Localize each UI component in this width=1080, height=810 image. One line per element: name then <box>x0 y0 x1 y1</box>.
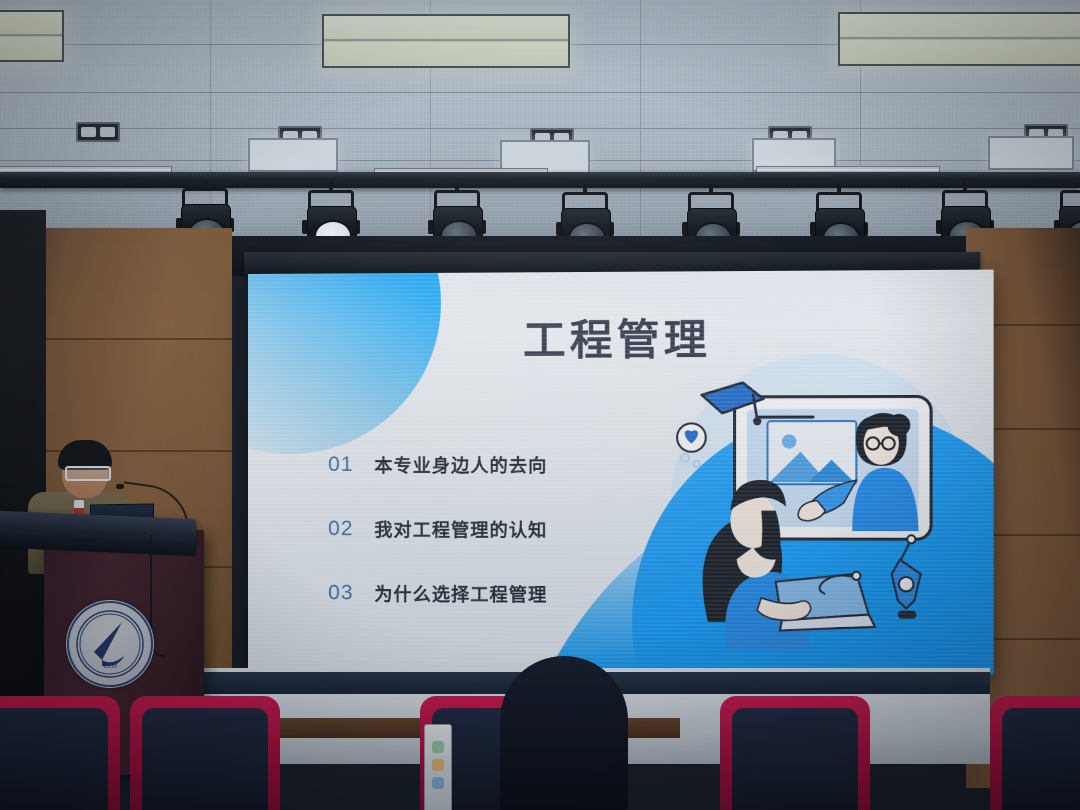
agenda-item: 01 本专业身边人的去向 <box>328 452 632 478</box>
ceiling <box>0 0 1080 250</box>
agenda-number: 03 <box>328 581 374 605</box>
auditorium-seat <box>130 696 280 810</box>
microphone-capsule <box>116 484 124 489</box>
lecture-hall-photo: 工程管理 01 本专业身边人的去向 02 我对工程管理的认知 03 为什么选择工… <box>0 0 1080 810</box>
agenda-number: 01 <box>328 453 374 477</box>
presentation-slide: 工程管理 01 本专业身边人的去向 02 我对工程管理的认知 03 为什么选择工… <box>248 270 994 675</box>
university-emblem: 1938 <box>66 600 154 688</box>
lighting-truss-bar <box>0 172 1080 188</box>
projection-screen: 工程管理 01 本专业身边人的去向 02 我对工程管理的认知 03 为什么选择工… <box>248 270 994 675</box>
ceiling-downlight <box>76 122 120 142</box>
agenda-label: 本专业身边人的去向 <box>374 452 547 478</box>
agenda-item: 03 为什么选择工程管理 <box>328 580 632 607</box>
audience-hair-strands <box>540 658 594 682</box>
glasses-icon <box>65 466 111 481</box>
ceiling-panel-light <box>248 138 338 172</box>
ceiling-troffer-light <box>838 12 1080 66</box>
ceiling-troffer-light <box>0 10 64 62</box>
audience-phone-screen <box>424 724 452 810</box>
agenda-number: 02 <box>328 517 374 541</box>
ceiling-panel-light <box>988 136 1074 170</box>
auditorium-seat <box>720 696 870 810</box>
online-learning-illustration <box>655 358 965 654</box>
ceiling-troffer-light <box>322 14 570 68</box>
agenda-list: 01 本专业身边人的去向 02 我对工程管理的认知 03 为什么选择工程管理 <box>328 452 632 646</box>
auditorium-seat <box>0 696 120 810</box>
agenda-item: 02 我对工程管理的认知 <box>328 516 632 543</box>
agenda-label: 为什么选择工程管理 <box>374 580 547 607</box>
agenda-label: 我对工程管理的认知 <box>374 516 547 542</box>
svg-text:1938: 1938 <box>103 662 118 670</box>
auditorium-seat <box>990 696 1080 810</box>
